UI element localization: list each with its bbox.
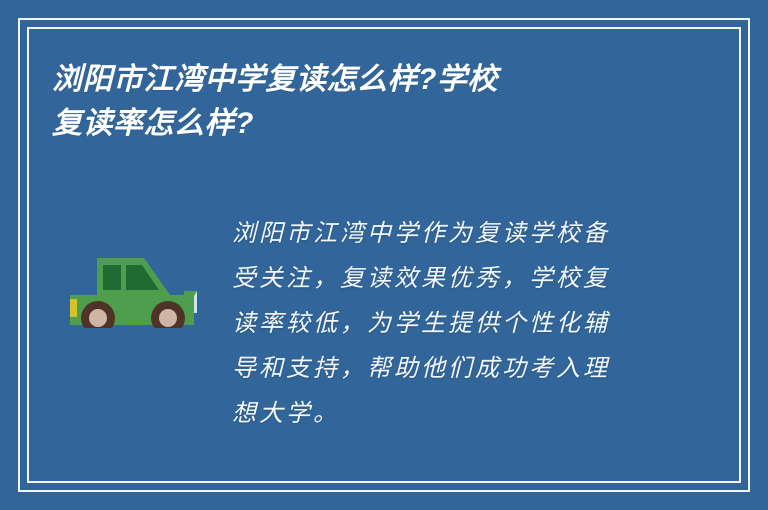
body-line-5: 想大学。 (232, 392, 652, 437)
headlight-shape (70, 299, 77, 317)
pickup-truck-icon (66, 238, 206, 328)
title-line-2: 复读率怎么样? (52, 102, 632, 146)
body-line-2: 受关注，复读效果优秀，学校复 (232, 257, 652, 302)
page-title: 浏阳市江湾中学复读怎么样?学校 复读率怎么样? (52, 58, 632, 146)
rear-hub-shape (159, 309, 177, 327)
body-paragraph: 浏阳市江湾中学作为复读学校备 受关注，复读效果优秀，学校复 读率较低，为学生提供… (232, 212, 652, 437)
body-line-1: 浏阳市江湾中学作为复读学校备 (232, 212, 652, 257)
body-line-4: 导和支持，帮助他们成功考入理 (232, 347, 652, 392)
poster-canvas: 浏阳市江湾中学复读怎么样?学校 复读率怎么样? 浏阳市江湾中学作为复读学校备 (0, 0, 768, 510)
title-line-1: 浏阳市江湾中学复读怎么样?学校 (52, 58, 632, 102)
body-line-3: 读率较低，为学生提供个性化辅 (232, 302, 652, 347)
front-window-shape (103, 265, 121, 290)
front-hub-shape (89, 309, 107, 327)
car-illustration (66, 238, 206, 328)
